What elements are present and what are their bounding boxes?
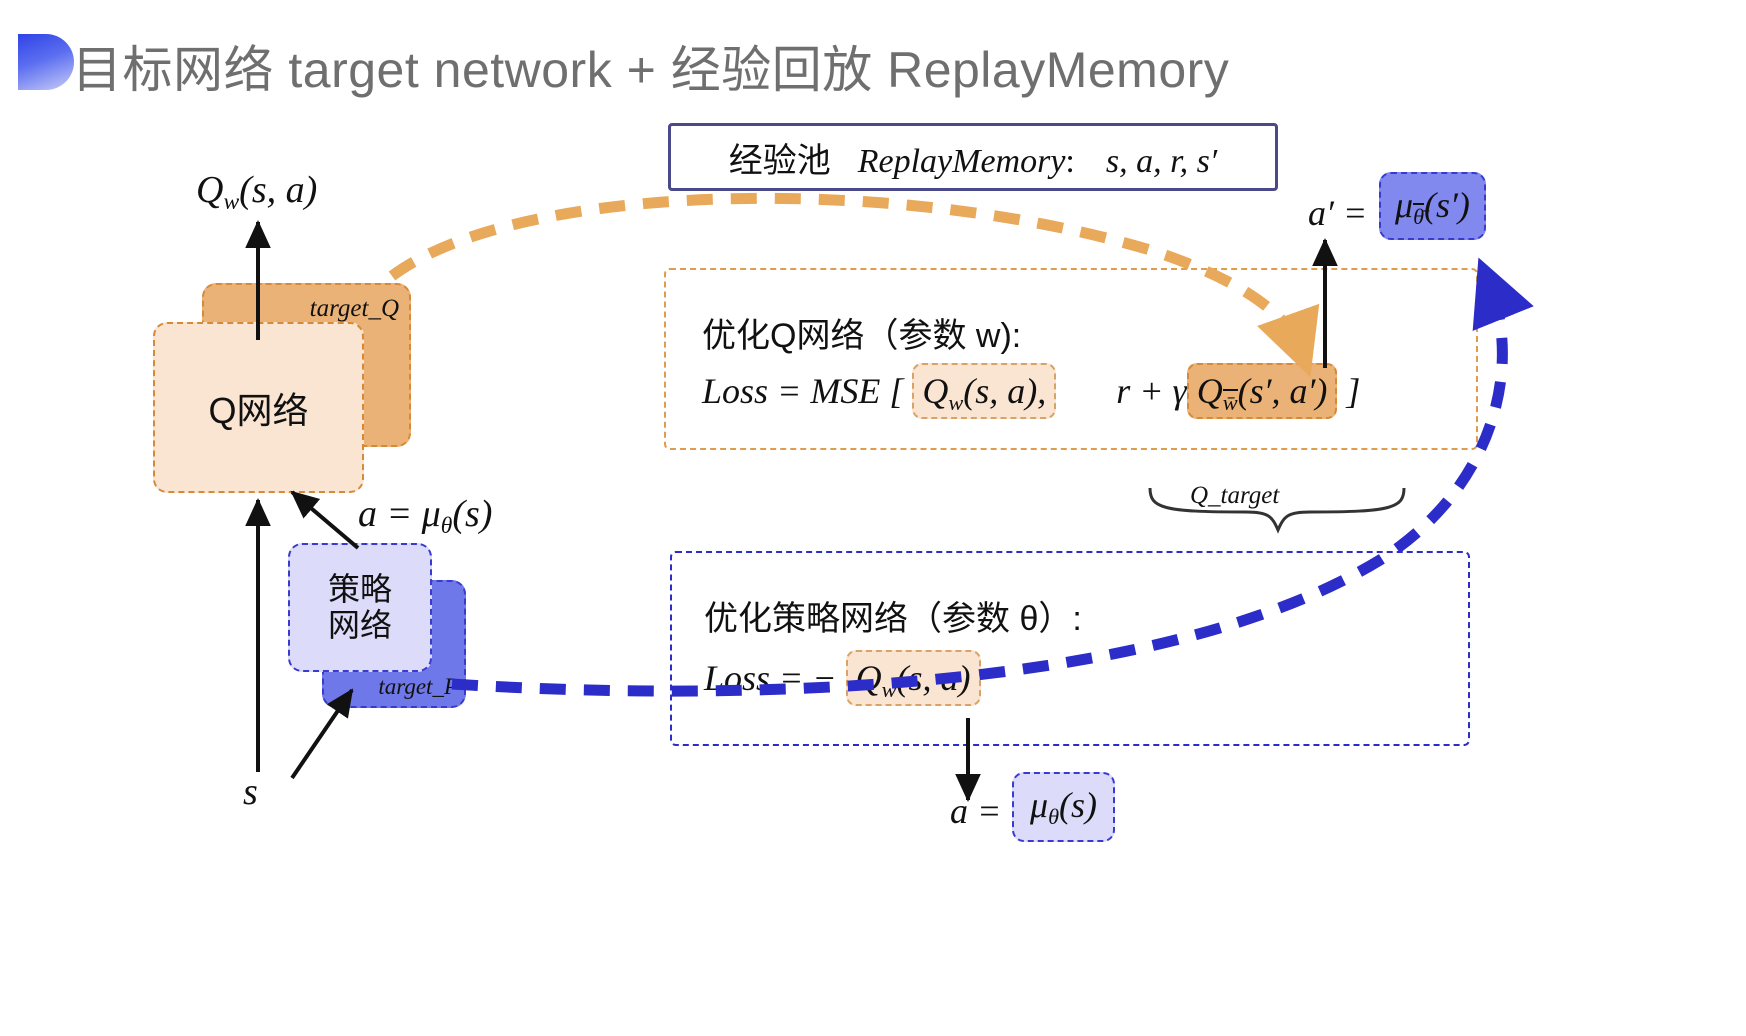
replay-memory-tuple: s, a, r, s′ xyxy=(1106,143,1217,180)
a-prime-mu-subscript: θ̄ xyxy=(1413,203,1424,228)
page-title: 目标网络 target network + 经验回放 ReplayMemory xyxy=(72,30,1229,102)
policy-optimization-heading: 优化策略网络（参数 θ）: xyxy=(704,591,1082,640)
q-network-box[interactable]: Q网络 xyxy=(153,322,364,493)
target-q-label: target_Q xyxy=(310,295,399,323)
policy-optimization-loss-equation: Loss = − Qw(s, a) xyxy=(704,657,981,703)
a-prime-args: (s′) xyxy=(1424,185,1470,225)
q-loss-prediction-term: Qw(s, a), xyxy=(912,363,1056,419)
q-network-label: Q网络 xyxy=(208,382,308,434)
policy-network-label-line2: 网络 xyxy=(328,608,392,644)
policy-network-box[interactable]: 策略 网络 xyxy=(288,543,432,672)
action-mu-subscript: θ xyxy=(441,513,453,540)
q-loss-target-term: Qw̄(s′, a′) xyxy=(1187,363,1338,419)
a-bottom-args: (s) xyxy=(1059,785,1097,825)
a-bottom-value-box[interactable]: μθ(s) xyxy=(1012,772,1115,842)
q-loss-target-args: (s′, a′) xyxy=(1238,371,1328,411)
q-loss-target-subscript: w̄ xyxy=(1223,389,1238,414)
policy-loss-q-symbol: Q xyxy=(856,658,882,698)
policy-network-label-line1: 策略 xyxy=(328,572,392,608)
replay-memory-colon: : xyxy=(1065,143,1074,180)
replay-memory-cjk-label: 经验池 xyxy=(729,142,831,180)
q-output-symbol: Q xyxy=(196,169,223,211)
a-bottom-mu-subscript: θ xyxy=(1048,804,1059,830)
q-optimization-loss-equation: Loss = MSE [ Qw(s, a), r + γQw̄(s′, a′) … xyxy=(702,370,1360,416)
q-output-subscript: w xyxy=(223,189,239,216)
a-prime-label: a′ = xyxy=(1308,192,1367,234)
policy-loss-q-subscript: w xyxy=(882,677,897,703)
q-target-brace-caption: Q_target xyxy=(1190,482,1279,510)
q-optimization-panel: 优化Q网络（参数 w): Loss = MSE [ Qw(s, a), r + … xyxy=(664,268,1478,450)
state-label: s xyxy=(243,770,258,814)
q-output-args: (s, a) xyxy=(239,169,317,211)
policy-loss-q-term: Qw(s, a) xyxy=(846,650,981,706)
target-p-label: target_P xyxy=(378,674,458,700)
q-output-label: Qw(s, a) xyxy=(196,168,317,216)
a-bottom-mu: μ xyxy=(1030,785,1048,825)
q-loss-target-symbol: Q xyxy=(1197,371,1223,411)
moon-bullet-icon xyxy=(18,34,74,90)
q-loss-pred-args: (s, a), xyxy=(963,371,1046,411)
action-args: (s) xyxy=(452,493,492,535)
slide-canvas: 目标网络 target network + 经验回放 ReplayMemory … xyxy=(0,0,1746,1036)
action-lhs: a = xyxy=(358,493,412,535)
q-loss-pred-symbol: Q xyxy=(922,371,948,411)
a-bottom-label: a = xyxy=(950,790,1001,832)
policy-to-qnet-arrow xyxy=(292,492,358,548)
q-loss-suffix: ] xyxy=(1346,371,1360,411)
action-equation-label: a = μθ(s) xyxy=(358,492,492,540)
q-optimization-heading: 优化Q网络（参数 w): xyxy=(702,308,1021,357)
a-prime-mu: μ xyxy=(1395,185,1413,225)
q-loss-pred-subscript: w xyxy=(948,390,963,416)
q-loss-prefix: Loss = MSE [ xyxy=(702,371,903,411)
q-loss-target-prefix: r + γ xyxy=(1116,371,1187,411)
policy-loss-q-args: (s, a) xyxy=(897,658,971,698)
action-mu: μ xyxy=(422,493,441,535)
a-prime-value-box[interactable]: μθ̄(s′) xyxy=(1379,172,1486,240)
policy-optimization-panel: 优化策略网络（参数 θ）: Loss = − Qw(s, a) xyxy=(670,551,1470,746)
policy-loss-prefix: Loss = − xyxy=(704,658,837,698)
replay-memory-name: ReplayMemory xyxy=(858,143,1066,180)
replay-memory-box: 经验池 ReplayMemory: s, a, r, s′ xyxy=(668,123,1278,191)
